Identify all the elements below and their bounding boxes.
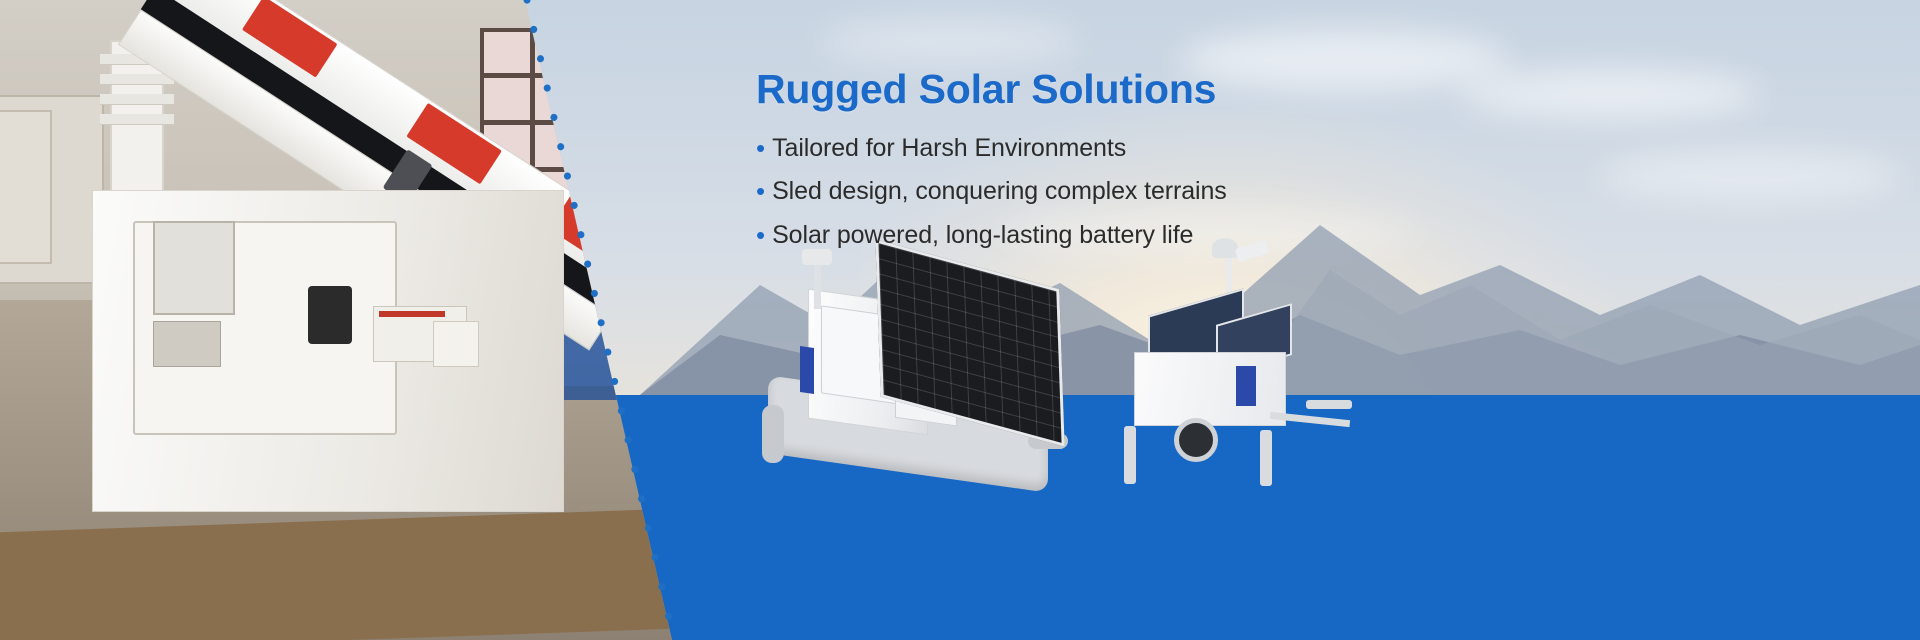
machine-cabinet: [92, 190, 564, 512]
outrigger-leg: [1260, 430, 1272, 486]
black-box-module: [308, 286, 352, 344]
trailer-wheel: [1174, 418, 1218, 462]
bullet-dot-icon: •: [756, 222, 765, 248]
cloud: [820, 18, 1080, 64]
electrical-hazard-label: [433, 321, 479, 367]
product-render-mobile-trailer-tower: [1120, 240, 1350, 505]
blue-control-box: [1236, 366, 1256, 406]
trailer-chassis: [1134, 352, 1286, 426]
sensor-mast: [814, 259, 821, 309]
feature-text: Solar powered, long-lasting battery life: [772, 220, 1193, 251]
list-item: • Solar powered, long-lasting battery li…: [756, 220, 1516, 251]
feature-text: Sled design, conquering complex terrains: [772, 176, 1227, 207]
bullet-dot-icon: •: [756, 178, 765, 204]
outrigger-leg: [1124, 426, 1136, 484]
feature-list: • Tailored for Harsh Environments • Sled…: [756, 133, 1516, 251]
cabinet-window: [153, 221, 235, 315]
hero-banner: Rugged Solar Solutions • Tailored for Ha…: [0, 0, 1920, 640]
background-equipment: [0, 110, 52, 264]
blue-battery-rack: [800, 346, 814, 394]
outrigger-arm: [1306, 400, 1352, 409]
control-panel: [153, 321, 221, 367]
bullet-dot-icon: •: [756, 135, 765, 161]
feature-text: Tailored for Harsh Environments: [772, 133, 1126, 164]
sled-skid: [762, 405, 784, 463]
product-render-sled-solar-unit: [760, 255, 1070, 485]
list-item: • Sled design, conquering complex terrai…: [756, 176, 1516, 207]
list-item: • Tailored for Harsh Environments: [756, 133, 1516, 164]
page-title: Rugged Solar Solutions: [756, 68, 1516, 111]
banner-text-column: Rugged Solar Solutions • Tailored for Ha…: [756, 68, 1516, 263]
wood-pallet: [0, 508, 700, 640]
